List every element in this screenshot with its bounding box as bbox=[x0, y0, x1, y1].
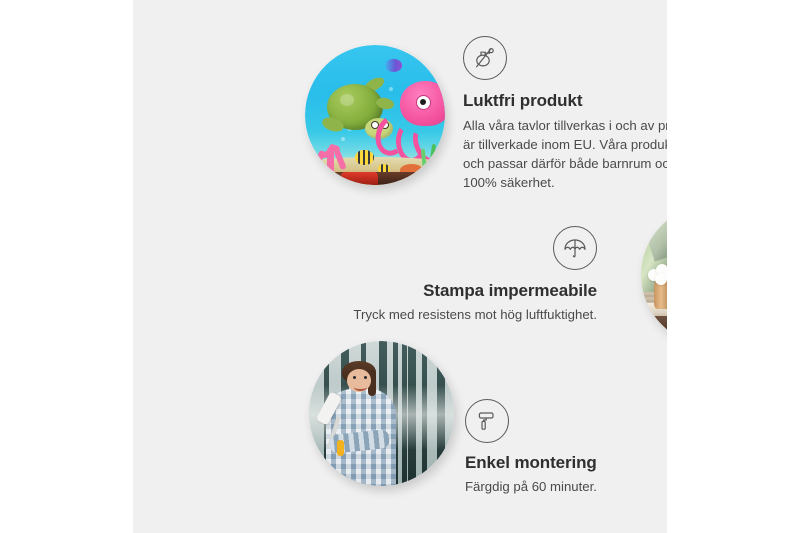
yellow-fish-icon bbox=[355, 150, 373, 165]
white-flowers bbox=[647, 262, 667, 283]
coral-icon bbox=[311, 129, 353, 174]
decorator-forest-photo bbox=[309, 341, 454, 486]
drawer-handle bbox=[666, 328, 667, 332]
feature-block-easy-mounting: Enkel montering Färgdig på 60 minuter. bbox=[465, 399, 667, 497]
paint-roller-icon bbox=[465, 399, 509, 443]
feature-description: Tryck med resistens mot hög luftfuktighe… bbox=[313, 306, 597, 325]
person-eye bbox=[364, 376, 367, 379]
feature-panel: Luktfri produkt Alla våra tavlor tillver… bbox=[133, 0, 667, 533]
no-odor-spray-bottle-icon bbox=[463, 36, 507, 80]
paint-roller-grip bbox=[337, 440, 344, 456]
wood-cabinet bbox=[652, 316, 667, 345]
person-smile bbox=[354, 383, 367, 391]
feature-block-odourless: Luktfri produkt Alla våra tavlor tillver… bbox=[463, 36, 667, 193]
screenshot-root: Luktfri produkt Alla våra tavlor tillver… bbox=[0, 0, 800, 533]
person-eye bbox=[353, 376, 356, 379]
feature-title: Enkel montering bbox=[465, 452, 667, 473]
bubble-icon bbox=[389, 87, 393, 91]
underwater-cartoon-photo bbox=[305, 45, 445, 185]
blue-fish-icon bbox=[385, 59, 402, 72]
umbrella-icon bbox=[553, 226, 597, 270]
feature-title: Luktfri produkt bbox=[463, 90, 667, 111]
feature-description: Alla våra tavlor tillverkas i och av pro… bbox=[463, 117, 667, 193]
feature-description: Färgdig på 60 minuter. bbox=[465, 478, 667, 497]
leaf-shape bbox=[641, 208, 667, 261]
bathroom-vanity-photo bbox=[641, 205, 667, 345]
feature-block-waterproof: Stampa impermeabile Tryck med resistens … bbox=[313, 226, 597, 325]
red-object bbox=[341, 172, 377, 185]
feature-title: Stampa impermeabile bbox=[313, 280, 597, 301]
bathroom-scene bbox=[641, 205, 667, 345]
